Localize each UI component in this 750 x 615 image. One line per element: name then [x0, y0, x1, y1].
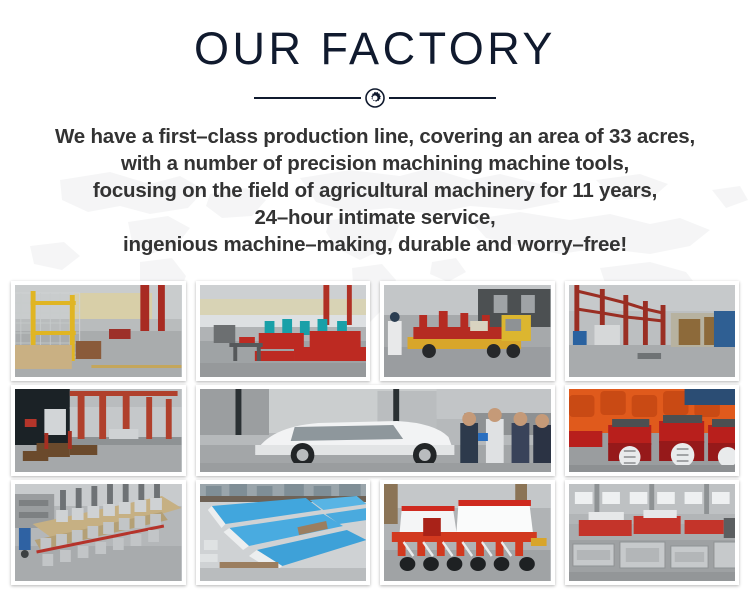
photo-frame: [380, 480, 555, 585]
factory-description: We have a first–class production line, c…: [20, 123, 730, 258]
page-header: OUR FACTORY: [0, 0, 750, 109]
photo-frame: [565, 480, 740, 585]
divider-line-right: [389, 97, 496, 99]
photo-frame: [565, 281, 740, 381]
photo-machining-area-columns: [15, 389, 182, 472]
photo-frame: [11, 281, 186, 381]
description-line-4: 24–hour intimate service,: [20, 204, 730, 231]
photo-frame: [196, 480, 371, 585]
gallery-item[interactable]: [375, 281, 560, 381]
photo-orange-machine-storage-yard: [569, 389, 736, 472]
gallery-item[interactable]: [560, 385, 745, 476]
description-line-3: focusing on the field of agricultural ma…: [20, 177, 730, 204]
gallery-item[interactable]: [191, 281, 376, 381]
photo-frame: [380, 281, 555, 381]
photo-team-with-white-suv: [200, 389, 551, 472]
description-line-2: with a number of precision machining mac…: [20, 150, 730, 177]
gallery-row: [0, 385, 750, 476]
gallery-item[interactable]: [560, 281, 745, 381]
photo-workshop-machine-rows: [200, 285, 367, 377]
gear-icon: [364, 87, 386, 109]
gallery-row: [0, 480, 750, 585]
photo-aerial-blue-roof-factory: [200, 484, 367, 581]
photo-frame: [196, 385, 555, 476]
photo-galvanised-parts-racks: [15, 484, 182, 581]
factory-photo-gallery: [0, 281, 750, 589]
photo-assembly-hall-wrapped-machines: [569, 484, 736, 581]
photo-frame: [11, 480, 186, 585]
gallery-row: [0, 281, 750, 381]
page-title: OUR FACTORY: [0, 26, 750, 71]
description-line-5: ingenious machine–making, durable and wo…: [20, 231, 730, 258]
photo-frame: [565, 385, 740, 476]
photo-frame: [11, 385, 186, 476]
divider-line-left: [254, 97, 361, 99]
gallery-item[interactable]: [191, 385, 560, 476]
photo-steel-frame-warehouse: [569, 285, 736, 377]
gallery-item[interactable]: [375, 480, 560, 585]
description-line-1: We have a first–class production line, c…: [20, 123, 730, 150]
photo-factory-aisle-railing: [15, 285, 182, 377]
gallery-item[interactable]: [6, 385, 191, 476]
photo-truck-loading-shipment: [384, 285, 551, 377]
title-divider: [254, 87, 496, 109]
gallery-item[interactable]: [191, 480, 376, 585]
gallery-item[interactable]: [560, 480, 745, 585]
gallery-item[interactable]: [6, 480, 191, 585]
factory-page: OUR FACTORY We have a first–class produc…: [0, 0, 750, 615]
photo-red-seed-drill-planter: [384, 484, 551, 581]
photo-frame: [196, 281, 371, 381]
gallery-item[interactable]: [6, 281, 191, 381]
